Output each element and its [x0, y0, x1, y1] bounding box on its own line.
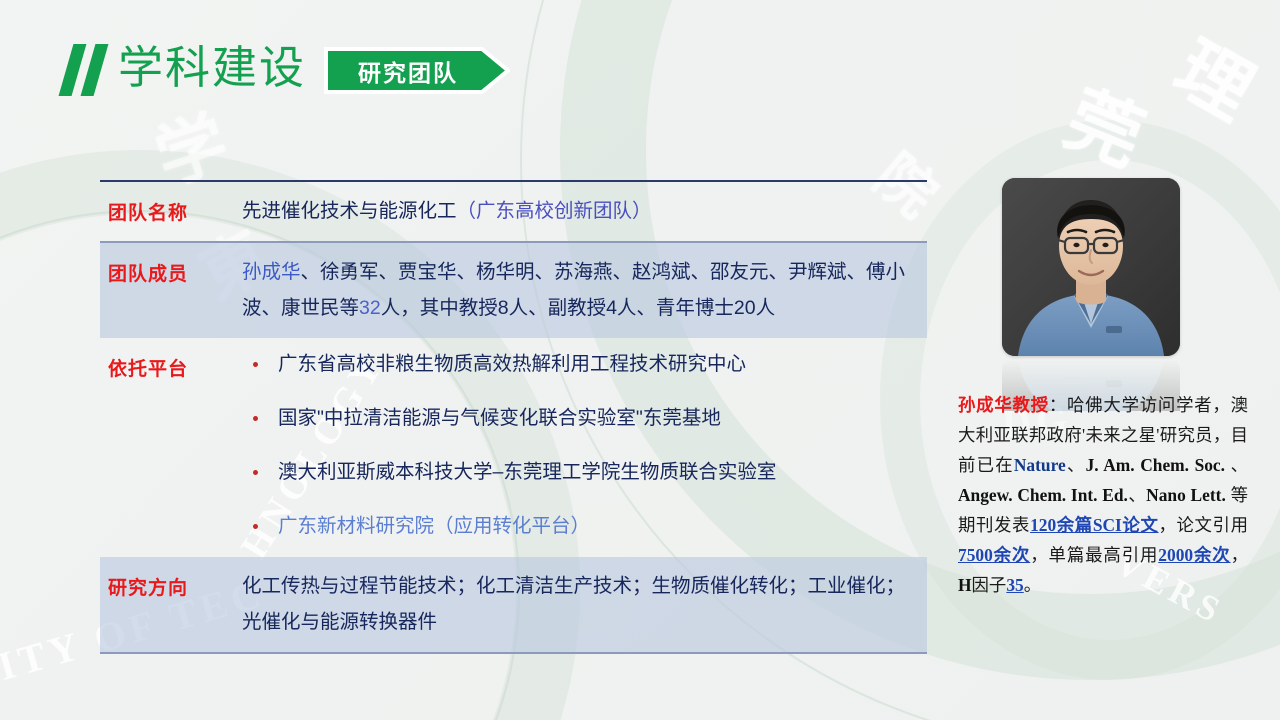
row-label-platforms: 依托平台	[100, 338, 242, 557]
row-value-platforms: 广东省高校非粮生物质高效热解利用工程技术研究中心 国家"中拉清洁能源与气候变化联…	[242, 338, 927, 557]
list-item: 广东省高校非粮生物质高效热解利用工程技术研究中心	[242, 349, 917, 379]
journal-jacs: J. Am. Chem. Soc.	[1086, 455, 1225, 475]
members-tail: 人，其中教授8人、副教授4人、青年博士20人	[381, 297, 775, 319]
stat-max-citations: 2000余次	[1158, 545, 1230, 565]
profile-photo-block	[1002, 178, 1180, 411]
section-ribbon: 研究团队	[324, 47, 510, 94]
row-value-research-directions: 化工传热与过程节能技术；化工清洁生产技术；生物质催化转化；工业催化；光催化与能源…	[242, 557, 927, 652]
bio-sep-3: 、	[1128, 485, 1146, 505]
bio-part-5: ，	[1231, 545, 1248, 565]
page-title: 学科建设	[118, 40, 306, 96]
list-item: 澳大利亚斯威本科技大学–东莞理工学院生物质联合实验室	[242, 457, 917, 487]
bio-part-3: ，论文引用	[1159, 515, 1248, 535]
row-value-team-name: 先进催化技术与能源化工（广东高校创新团队）	[242, 182, 927, 241]
slide-header: 学科建设 研究团队	[0, 0, 1280, 130]
h-index-prefix: H	[958, 575, 972, 595]
stat-h-index: 35	[1006, 575, 1023, 595]
stat-papers: 120余篇SCI论文	[1030, 515, 1158, 535]
lead-member-name: 孙成华	[242, 261, 301, 283]
portrait-photo-icon	[1002, 178, 1180, 356]
team-name-paren: （广东高校创新团队）	[457, 200, 652, 222]
journal-nature: Nature	[1014, 455, 1066, 475]
row-label-team-members: 团队成员	[100, 243, 242, 338]
platform-list: 广东省高校非粮生物质高效热解利用工程技术研究中心 国家"中拉清洁能源与气候变化联…	[242, 349, 917, 541]
double-slash-icon	[62, 44, 118, 96]
team-info-table: 团队名称 先进催化技术与能源化工（广东高校创新团队） 团队成员 孙成华、徐勇军、…	[100, 180, 927, 654]
list-item: 国家"中拉清洁能源与气候变化联合实验室"东莞基地	[242, 403, 917, 433]
table-row-research-directions: 研究方向 化工传热与过程节能技术；化工清洁生产技术；生物质催化转化；工业催化；光…	[100, 557, 927, 654]
list-item: 广东新材料研究院（应用转化平台）	[242, 511, 917, 541]
bio-sep-2: 、	[1225, 455, 1248, 475]
bio-sep-1: 、	[1066, 455, 1086, 475]
row-value-team-members: 孙成华、徐勇军、贾宝华、杨华明、苏海燕、赵鸿斌、邵友元、尹辉斌、傅小波、康世民等…	[242, 243, 927, 338]
member-count: 32	[359, 297, 381, 319]
bio-part-4: ，单篇最高引用	[1030, 545, 1158, 565]
table-row-team-name: 团队名称 先进催化技术与能源化工（广东高校创新团队）	[100, 180, 927, 243]
bio-end: 。	[1024, 575, 1041, 595]
row-label-team-name: 团队名称	[100, 182, 242, 241]
team-name-main: 先进催化技术与能源化工	[242, 200, 457, 222]
profile-name: 孙成华教授	[958, 395, 1049, 415]
journal-nano-lett: Nano Lett.	[1146, 485, 1226, 505]
journal-angew: Angew. Chem. Int. Ed.	[958, 485, 1128, 505]
section-ribbon-label: 研究团队	[324, 47, 492, 94]
stat-citations: 7500余次	[958, 545, 1030, 565]
profile-bio: 孙成华教授：哈佛大学访问学者，澳大利亚联邦政府'未来之星'研究员，目前已在Nat…	[958, 390, 1248, 600]
avatar	[1002, 178, 1180, 356]
bio-part-6: 因子	[972, 575, 1007, 595]
table-row-team-members: 团队成员 孙成华、徐勇军、贾宝华、杨华明、苏海燕、赵鸿斌、邵友元、尹辉斌、傅小波…	[100, 243, 927, 338]
row-label-research-directions: 研究方向	[100, 557, 242, 652]
table-row-platforms: 依托平台 广东省高校非粮生物质高效热解利用工程技术研究中心 国家"中拉清洁能源与…	[100, 338, 927, 557]
slide-root: 莞 理 学 院 東 ITY OF TEC HNOLOGY VERS DG 学科建…	[0, 0, 1280, 720]
